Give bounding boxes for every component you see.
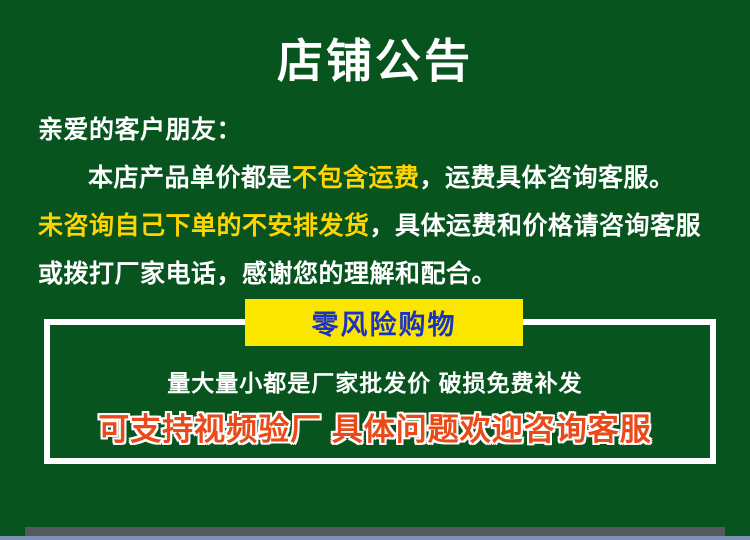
greeting-line: 亲爱的客户朋友：	[38, 106, 718, 154]
bottom-gray-divider	[25, 527, 725, 536]
zero-risk-badge: 零风险购物	[245, 299, 523, 346]
shipping-note-suffix: ，运费具体咨询客服。	[420, 164, 675, 192]
order-policy-suffix: ，具体运费和价格请咨询客服	[370, 212, 702, 240]
shipping-note-line: 本店产品单价都是不包含运费，运费具体咨询客服。	[38, 154, 718, 202]
order-policy-line: 未咨询自己下单的不安排发货，具体运费和价格请咨询客服	[38, 202, 718, 250]
shop-announcement-banner: 店铺公告 亲爱的客户朋友： 本店产品单价都是不包含运费，运费具体咨询客服。 未咨…	[0, 0, 750, 540]
video-inspection-text: 可支持视频验厂 具体问题欢迎咨询客服	[0, 404, 750, 449]
shipping-note-prefix: 本店产品单价都是	[88, 164, 292, 192]
shipping-note-highlight: 不包含运费	[292, 164, 420, 192]
page-title: 店铺公告	[0, 36, 750, 87]
order-policy-highlight: 未咨询自己下单的不安排发货	[38, 212, 370, 240]
bottom-blue-divider	[0, 536, 750, 540]
announcement-body: 亲爱的客户朋友： 本店产品单价都是不包含运费，运费具体咨询客服。 未咨询自己下单…	[38, 106, 718, 298]
contact-line: 或拨打厂家电话，感谢您的理解和配合。	[38, 250, 718, 298]
wholesale-guarantee-text: 量大量小都是厂家批发价 破损免费补发	[0, 364, 750, 398]
